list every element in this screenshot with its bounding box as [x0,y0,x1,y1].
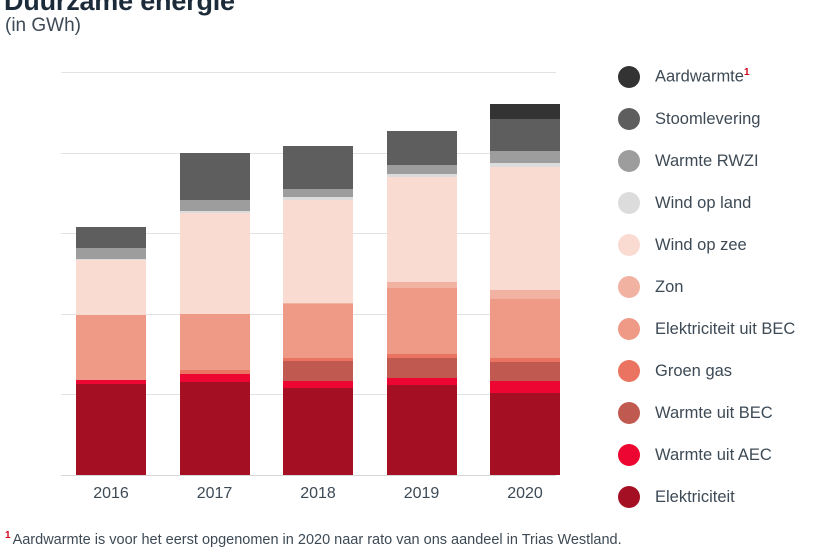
legend-item[interactable]: Elektriciteit uit BEC [618,308,828,350]
bar-segment[interactable] [283,146,353,189]
legend-item-label: Elektriciteit [655,488,735,507]
bar-segment[interactable] [490,393,560,475]
legend-swatch-icon [618,402,640,424]
legend-swatch-icon [618,276,640,298]
bar-2016[interactable] [76,227,146,475]
bar-segment[interactable] [180,374,250,382]
bar-2020[interactable] [490,104,560,475]
x-axis-tick-label: 2020 [490,485,560,503]
footnote-text: Aardwarmte is voor het eerst opgenomen i… [13,532,622,548]
legend-item-label: Elektriciteit uit BEC [655,320,795,339]
legend-item[interactable]: Elektriciteit [618,476,828,518]
legend-footnote-marker: 1 [744,67,750,78]
bar-segment[interactable] [490,299,560,358]
x-axis-tick-label: 2016 [76,485,146,503]
bar-segment[interactable] [387,131,457,165]
x-axis-tick-label: 2017 [180,485,250,503]
bar-segment[interactable] [180,314,250,370]
legend-item-label: Wind op land [655,194,751,213]
bar-segment[interactable] [387,288,457,354]
legend-item[interactable]: Stoomlevering [618,98,828,140]
bar-segment[interactable] [76,248,146,259]
bar-segment[interactable] [387,385,457,475]
bar-segment[interactable] [180,382,250,475]
legend-item-label: Zon [655,278,683,297]
legend-item-label: Stoomlevering [655,110,760,129]
legend-item[interactable]: Warmte RWZI [618,140,828,182]
bar-segment[interactable] [76,315,146,379]
legend-item-label: Warmte RWZI [655,152,759,171]
bar-segment[interactable] [76,260,146,315]
bar-segment[interactable] [387,378,457,385]
bar-segment[interactable] [180,213,250,314]
chart-footnote: 1Aardwarmte is voor het eerst opgenomen … [5,530,622,548]
legend-swatch-icon [618,150,640,172]
gridline-1500 [61,72,556,73]
legend-swatch-icon [618,108,640,130]
bar-segment[interactable] [490,119,560,151]
bar-2018[interactable] [283,146,353,475]
legend-swatch-icon [618,486,640,508]
legend-item[interactable]: Groen gas [618,350,828,392]
bar-2019[interactable] [387,131,457,475]
chart-plot-area: 03006009001.2001.50020162017201820192020 [72,72,556,475]
legend-item-label: Warmte uit AEC [655,446,772,465]
bar-segment[interactable] [490,151,560,163]
bar-2017[interactable] [180,153,250,475]
x-axis-tick-label: 2018 [283,485,353,503]
bar-segment[interactable] [283,189,353,197]
chart-unit-subtitle: (in GWh) [5,15,81,37]
legend-item-label: Wind op zee [655,236,747,255]
x-axis-tick-label: 2019 [387,485,457,503]
bar-segment[interactable] [180,153,250,200]
bar-segment[interactable] [283,388,353,475]
bar-segment[interactable] [490,104,560,119]
legend-item[interactable]: Wind op zee [618,224,828,266]
legend-item[interactable]: Warmte uit BEC [618,392,828,434]
bar-segment[interactable] [387,282,457,289]
legend-swatch-icon [618,444,640,466]
bar-segment[interactable] [387,358,457,378]
bar-segment[interactable] [387,165,457,174]
bar-segment[interactable] [283,361,353,381]
legend-item[interactable]: Aardwarmte1 [618,56,828,98]
legend-item-label: Warmte uit BEC [655,404,773,423]
bar-segment[interactable] [490,362,560,381]
bar-segment[interactable] [76,227,146,248]
bar-segment[interactable] [387,177,457,282]
bar-segment[interactable] [283,304,353,358]
bar-segment[interactable] [490,167,560,289]
bar-segment[interactable] [490,381,560,393]
bar-segment[interactable] [283,200,353,303]
gridline-0 [61,475,556,476]
legend-item-label: Groen gas [655,362,732,381]
bar-segment[interactable] [283,381,353,388]
legend-item[interactable]: Wind op land [618,182,828,224]
legend-item[interactable]: Zon [618,266,828,308]
legend-item[interactable]: Warmte uit AEC [618,434,828,476]
legend-swatch-icon [618,234,640,256]
bar-segment[interactable] [76,384,146,475]
legend-swatch-icon [618,192,640,214]
legend-swatch-icon [618,318,640,340]
bar-segment[interactable] [180,200,250,211]
chart-page: Duurzame energie (in GWh) 03006009001.20… [0,0,828,552]
legend-swatch-icon [618,66,640,88]
bar-segment[interactable] [490,290,560,299]
legend-swatch-icon [618,360,640,382]
legend-item-label: Aardwarmte1 [655,67,750,87]
chart-legend: Aardwarmte1StoomleveringWarmte RWZIWind … [618,56,828,518]
footnote-marker: 1 [5,530,11,541]
